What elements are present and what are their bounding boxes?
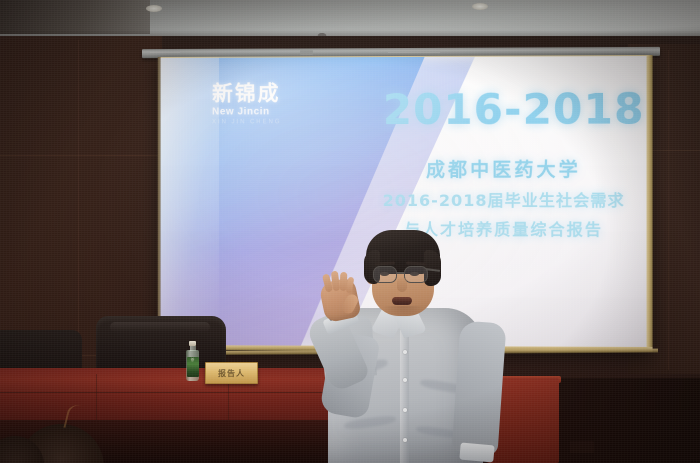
logo-chinese-text: 新锦成	[212, 83, 331, 104]
bottle-label-text: 茶	[188, 358, 198, 362]
slide-left-highlight	[160, 58, 219, 346]
shirt-button	[403, 438, 407, 442]
arm-right	[451, 321, 506, 456]
slide-title-sub1: 2016-2018届毕业生社会需求	[358, 187, 648, 211]
shirt-button	[403, 378, 407, 382]
slide-year-heading: 2016-2018	[373, 84, 649, 134]
table-seam	[0, 392, 350, 393]
shirt-button	[403, 350, 407, 354]
chin-shadow	[382, 306, 424, 318]
water-bottle: 茶	[186, 341, 199, 381]
head-table	[0, 368, 350, 428]
wall-seam	[668, 50, 669, 370]
cuff-right	[459, 443, 494, 463]
wall-seam	[0, 155, 160, 156]
logo-english-text: New Jincin	[212, 106, 331, 117]
wall-seam	[78, 40, 79, 360]
speaker-person	[320, 222, 510, 463]
ceiling-cable	[150, 52, 180, 53]
nose	[397, 278, 407, 292]
slide-logo: 新锦成 New Jincin XIN JIN CHENG	[212, 83, 331, 125]
floor-object	[570, 441, 594, 453]
bottle-label: 茶	[187, 357, 199, 377]
chair-highlight	[110, 322, 210, 332]
screen-frame-right-edge	[647, 55, 653, 352]
photograph-conference-presentation: 新锦成 New Jincin XIN JIN CHENG 2016-2018 成…	[0, 0, 700, 463]
eyeglasses-bridge	[397, 272, 404, 274]
ceiling-downlight-icon	[472, 3, 488, 10]
ceiling-downlight-icon	[146, 5, 162, 12]
eyeglasses-lens-right	[404, 266, 428, 283]
ceiling-shadow-left	[0, 0, 150, 34]
screen-frame-left-edge	[158, 57, 161, 350]
screen-pull-knob	[300, 50, 313, 55]
finger	[331, 271, 340, 292]
mouth-speaking	[392, 297, 412, 305]
ceiling-cable	[388, 52, 440, 53]
name-placard-text: 报告人	[218, 368, 245, 379]
logo-subtext: XIN JIN CHENG	[212, 119, 331, 125]
name-placard: 报告人	[205, 362, 258, 384]
shirt-button	[403, 408, 407, 412]
eyeglasses-lens-left	[373, 266, 397, 283]
slide-title-main: 成都中医药大学	[358, 155, 648, 182]
